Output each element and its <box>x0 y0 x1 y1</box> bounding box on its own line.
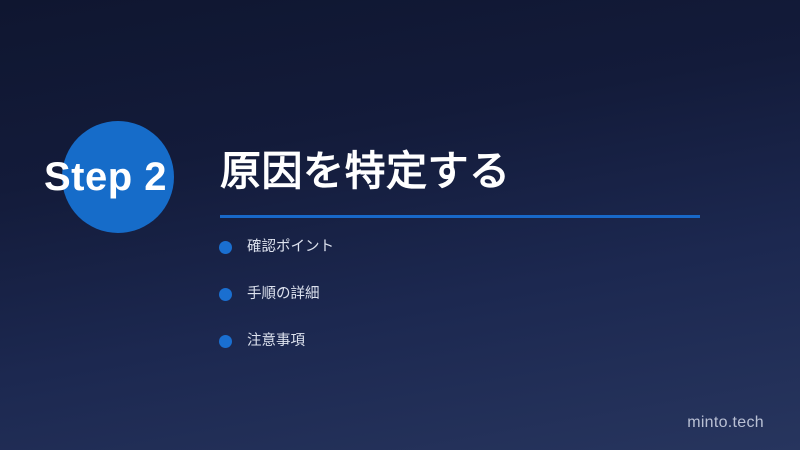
slide-canvas: Step 2 原因を特定する 確認ポイント 手順の詳細 注意事項 minto.t… <box>0 0 800 450</box>
list-item: 確認ポイント <box>219 239 334 256</box>
bullet-item-label: 注意事項 <box>247 333 305 350</box>
bullet-list: 確認ポイント 手順の詳細 注意事項 <box>219 239 334 350</box>
list-item: 注意事項 <box>219 333 334 350</box>
title-underline-rule <box>220 215 700 218</box>
bullet-item-label: 確認ポイント <box>247 239 334 256</box>
page-title: 原因を特定する <box>220 146 702 196</box>
bullet-item-label: 手順の詳細 <box>247 286 320 303</box>
step-badge-label: Step 2 <box>44 151 167 203</box>
bullet-dot-icon <box>219 288 232 301</box>
title-block: 原因を特定する <box>220 146 702 218</box>
footer-brand-watermark: minto.tech <box>687 414 764 432</box>
bullet-dot-icon <box>219 335 232 348</box>
bullet-dot-icon <box>219 241 232 254</box>
list-item: 手順の詳細 <box>219 286 334 303</box>
